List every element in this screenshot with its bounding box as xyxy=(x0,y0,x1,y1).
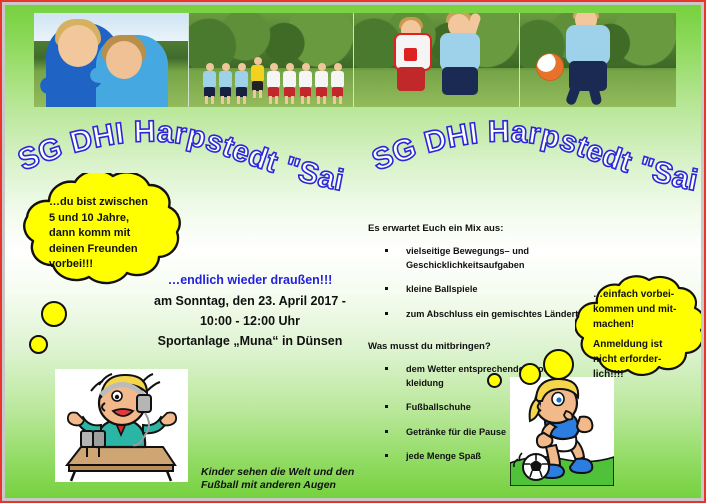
photo-player xyxy=(299,63,312,103)
photo-player xyxy=(203,63,216,103)
caption-line-2: Fußball mit anderen Augen xyxy=(201,479,431,492)
poster-flyer: SG DHI Harpstedt "Saison-In" SG DHI Harp… xyxy=(0,0,706,503)
photo-player xyxy=(283,63,296,103)
caption-line-1: Kinder sehen die Welt und den xyxy=(201,466,431,479)
cartoon-kid-with-ball xyxy=(510,377,614,486)
photo-duel xyxy=(354,13,520,107)
poster-inner-canvas: SG DHI Harpstedt "Saison-In" SG DHI Harp… xyxy=(5,5,701,498)
photo-player xyxy=(315,63,328,103)
event-headline: …endlich wieder draußen!!! xyxy=(125,273,375,287)
bubble-line: …du bist zwischen xyxy=(49,195,169,211)
bubble-line: …einfach vorbei- xyxy=(593,287,698,302)
bullet-icon xyxy=(385,405,388,408)
photo-strip xyxy=(34,13,676,107)
bullet-icon xyxy=(385,287,388,290)
event-time: 10:00 - 12:00 Uhr xyxy=(125,314,375,328)
bubble-line: Anmeldung ist xyxy=(593,337,698,352)
photo-player xyxy=(251,57,264,101)
photo-player-kicking xyxy=(560,23,630,105)
thought-dot xyxy=(487,373,502,388)
thought-bubble-right: …einfach vorbei- kommen und mit- machen!… xyxy=(575,273,701,391)
bubble-line: 5 und 10 Jahre, xyxy=(49,211,169,227)
photo-player-blue xyxy=(432,31,492,103)
caption-text: Kinder sehen die Welt und den Fußball mi… xyxy=(201,466,431,492)
photo-player xyxy=(219,63,232,103)
photo-player xyxy=(331,63,344,103)
photo-player-red xyxy=(388,43,436,97)
thought-bubble-right-text: …einfach vorbei- kommen und mit- machen!… xyxy=(593,287,698,382)
bullet-icon xyxy=(385,249,388,252)
thought-dot xyxy=(543,349,574,380)
wordart-title-right: SG DHI Harpstedt "Saison-In" xyxy=(371,117,701,203)
photo-team-group xyxy=(189,13,353,107)
bubble-line: nicht erforder- xyxy=(593,352,698,367)
bubble-line: dann komm mit xyxy=(49,226,169,242)
photo-trees xyxy=(189,13,353,68)
photo-hugging-kids xyxy=(34,13,188,107)
bubble-line: vorbei!!! xyxy=(49,257,169,273)
photo-head-left xyxy=(58,25,98,67)
list-item-label: Getränke für die Pause xyxy=(406,427,506,437)
list-item-label: kleine Ballspiele xyxy=(406,284,478,294)
list-item-label: jede Menge Spaß xyxy=(406,451,481,461)
bubble-line: deinen Freunden xyxy=(49,242,169,258)
cartoon-announcer xyxy=(55,369,188,482)
list-item-label: vielseitige Bewegungs– und Geschicklichk… xyxy=(406,246,529,270)
bullet-icon xyxy=(385,312,388,315)
photo-player xyxy=(235,63,248,103)
bubble-line: machen! xyxy=(593,317,698,332)
list-item-label: Fußballschuhe xyxy=(406,402,471,412)
thought-dot xyxy=(29,335,48,354)
thought-bubble-left-text: …du bist zwischen 5 und 10 Jahre, dann k… xyxy=(49,195,169,273)
bullet-icon xyxy=(385,430,388,433)
bubble-line: lich!!!! xyxy=(593,367,698,382)
list-item: vielseitige Bewegungs– und Geschicklichk… xyxy=(368,245,638,272)
event-date: am Sonntag, den 23. April 2017 - xyxy=(125,294,375,308)
photo-player xyxy=(267,63,280,103)
wordart-title-text: SG DHI Harpstedt "Saison-In" xyxy=(362,91,701,198)
photo-kicker xyxy=(520,13,676,107)
thought-dot xyxy=(41,301,67,327)
bubble-line: kommen und mit- xyxy=(593,302,698,317)
info-heading-mix: Es erwartet Euch ein Mix aus: xyxy=(368,223,638,234)
photo-head-right xyxy=(106,41,142,79)
event-details: …endlich wieder draußen!!! am Sonntag, d… xyxy=(125,273,375,354)
bullet-icon xyxy=(385,454,388,457)
event-location: Sportanlage „Muna“ in Dünsen xyxy=(125,334,375,348)
thought-dot xyxy=(519,363,541,385)
bullet-icon xyxy=(385,367,388,370)
